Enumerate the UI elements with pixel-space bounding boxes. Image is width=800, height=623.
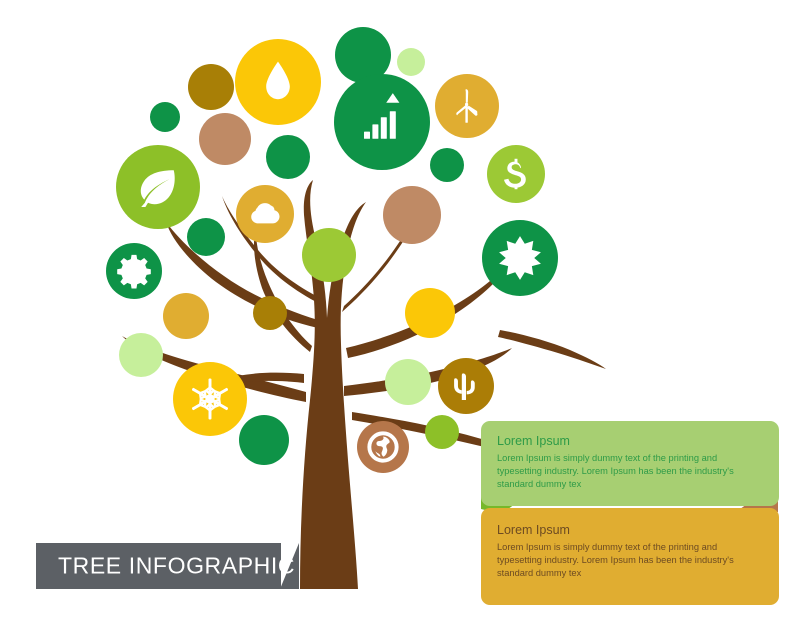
decor-circle: [239, 415, 289, 465]
decor-circle: [430, 148, 464, 182]
callout-yellow-title: Lorem Ipsum: [497, 522, 763, 539]
decor-circle: [302, 228, 356, 282]
decor-circle: [266, 135, 310, 179]
branch-far-right: [498, 330, 606, 369]
globe-icon-node[interactable]: [357, 421, 409, 473]
decor-circle: [187, 218, 225, 256]
decor-circle: [425, 415, 459, 449]
leaf-icon-node[interactable]: [116, 145, 200, 229]
sun-icon-node[interactable]: [482, 220, 558, 296]
bar-chart-growth-icon-node[interactable]: [334, 74, 430, 170]
decor-circle: [397, 48, 425, 76]
callout-green-body: Lorem Ipsum is simply dummy text of the …: [497, 452, 763, 492]
decor-circle: [385, 359, 431, 405]
page-title: TREE INFOGRAPHIC: [58, 553, 295, 580]
snowflake-icon-node[interactable]: [173, 362, 247, 436]
decor-circle: [383, 186, 441, 244]
decor-circle: [199, 113, 251, 165]
wind-turbine-icon-node[interactable]: [435, 74, 499, 138]
water-drop-icon-node[interactable]: [235, 39, 321, 125]
decor-circle: [163, 293, 209, 339]
decor-circle: [150, 102, 180, 132]
callout-box-green[interactable]: Lorem Ipsum Lorem Ipsum is simply dummy …: [481, 421, 779, 506]
infographic-canvas: Lorem Ipsum Lorem Ipsum is simply dummy …: [0, 0, 800, 623]
cactus-icon-node[interactable]: [438, 358, 494, 414]
decor-circle: [253, 296, 287, 330]
callout-green-title: Lorem Ipsum: [497, 433, 763, 450]
callout-yellow-body: Lorem Ipsum is simply dummy text of the …: [497, 541, 763, 581]
decor-circle: [119, 333, 163, 377]
gear-icon-node[interactable]: [106, 243, 162, 299]
cloud-icon-node[interactable]: [236, 185, 294, 243]
decor-circle: [188, 64, 234, 110]
dollar-sign-icon-node[interactable]: [487, 145, 545, 203]
title-banner: TREE INFOGRAPHIC: [36, 543, 281, 589]
decor-circle: [405, 288, 455, 338]
gear-icon: [117, 255, 151, 289]
callout-box-yellow[interactable]: Lorem Ipsum Lorem Ipsum is simply dummy …: [481, 508, 779, 605]
